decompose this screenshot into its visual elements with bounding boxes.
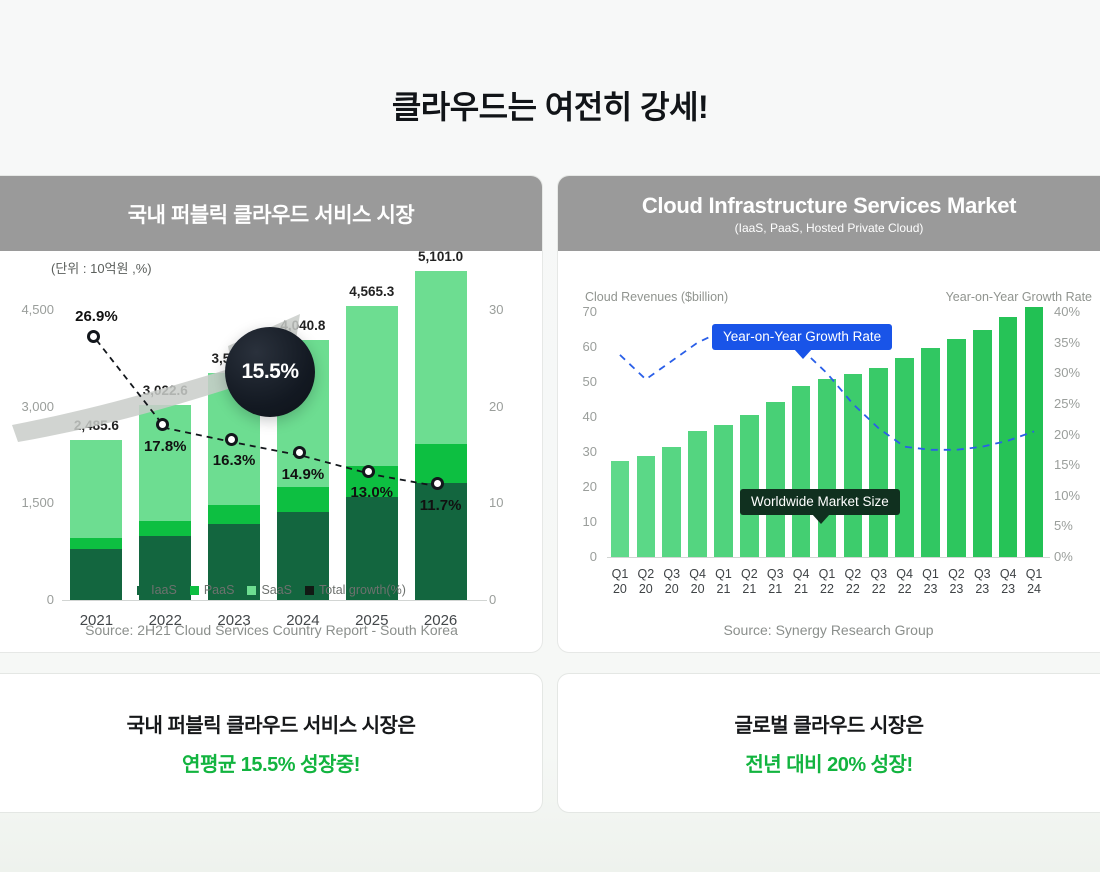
left-chart-overlay bbox=[0, 250, 543, 610]
legend-item-paas: PaaS bbox=[190, 583, 235, 597]
callout-market-size-pointer-icon bbox=[812, 514, 830, 524]
legend-item-iaas: IaaS bbox=[137, 583, 177, 597]
panel-left-title: 국내 퍼블릭 클라우드 서비스 시장 bbox=[128, 199, 415, 229]
panel-left-header: 국내 퍼블릭 클라우드 서비스 시장 bbox=[0, 176, 542, 251]
summary-card-global-line1: 글로벌 클라우드 시장은 bbox=[734, 709, 923, 738]
legend-label: SaaS bbox=[261, 583, 292, 597]
cagr-badge: 15.5% bbox=[225, 327, 315, 417]
summary-card-global-line2: 전년 대비 20% 성장! bbox=[745, 748, 912, 777]
chart-cloud-infrastructure: Cloud Revenues ($billion)Year-on-Year Gr… bbox=[557, 250, 1100, 610]
page-title-green: 클라우드 bbox=[392, 89, 508, 125]
callout-growth-rate-pointer-icon bbox=[794, 349, 812, 359]
legend-item-saas: SaaS bbox=[247, 583, 292, 597]
legend-label: PaaS bbox=[204, 583, 235, 597]
legend-swatch-icon bbox=[190, 586, 199, 595]
panel-right-header: Cloud Infrastructure Services Market (Ia… bbox=[558, 176, 1100, 251]
chart-korea-public-cloud: 01,5003,0004,50001020302,485.626.9%20213… bbox=[0, 250, 543, 610]
infographic-page: 클라우드는 여전히 강세! 국내 퍼블릭 클라우드 서비스 시장 (단위 : 1… bbox=[0, 0, 1100, 872]
summary-card-korea: 국내 퍼블릭 클라우드 서비스 시장은 연평균 15.5% 성장중! bbox=[0, 673, 543, 813]
right-chart-overlay bbox=[557, 250, 1100, 610]
summary-card-global: 글로벌 클라우드 시장은 전년 대비 20% 성장! bbox=[557, 673, 1100, 813]
legend-left-chart: IaaSPaaSSaaSTotal growth(%) bbox=[0, 583, 543, 597]
callout-market-size: Worldwide Market Size bbox=[740, 489, 900, 515]
left-chart-growth-marker bbox=[225, 433, 238, 446]
legend-label: IaaS bbox=[151, 583, 177, 597]
legend-swatch-icon bbox=[137, 586, 146, 595]
panel-right-subtitle: (IaaS, PaaS, Hosted Private Cloud) bbox=[735, 221, 924, 235]
page-title: 클라우드는 여전히 강세! bbox=[0, 82, 1100, 128]
panel-right-title: Cloud Infrastructure Services Market bbox=[642, 193, 1016, 219]
callout-market-size-label: Worldwide Market Size bbox=[751, 494, 889, 509]
source-left: Source: 2H21 Cloud Services Country Repo… bbox=[0, 622, 543, 638]
legend-swatch-icon bbox=[247, 586, 256, 595]
summary-card-korea-line1: 국내 퍼블릭 클라우드 서비스 시장은 bbox=[127, 709, 416, 738]
legend-swatch-icon bbox=[305, 586, 314, 595]
callout-growth-rate: Year-on-Year Growth Rate bbox=[712, 324, 892, 350]
callout-growth-rate-label: Year-on-Year Growth Rate bbox=[723, 329, 881, 344]
page-title-rest: 는 여전히 강세! bbox=[508, 89, 709, 125]
summary-card-korea-line2: 연평균 15.5% 성장중! bbox=[182, 748, 360, 777]
source-right: Source: Synergy Research Group bbox=[557, 622, 1100, 638]
legend-item-total-growth: Total growth(%) bbox=[305, 583, 406, 597]
left-chart-growth-marker bbox=[362, 465, 375, 478]
legend-label: Total growth(%) bbox=[319, 583, 406, 597]
